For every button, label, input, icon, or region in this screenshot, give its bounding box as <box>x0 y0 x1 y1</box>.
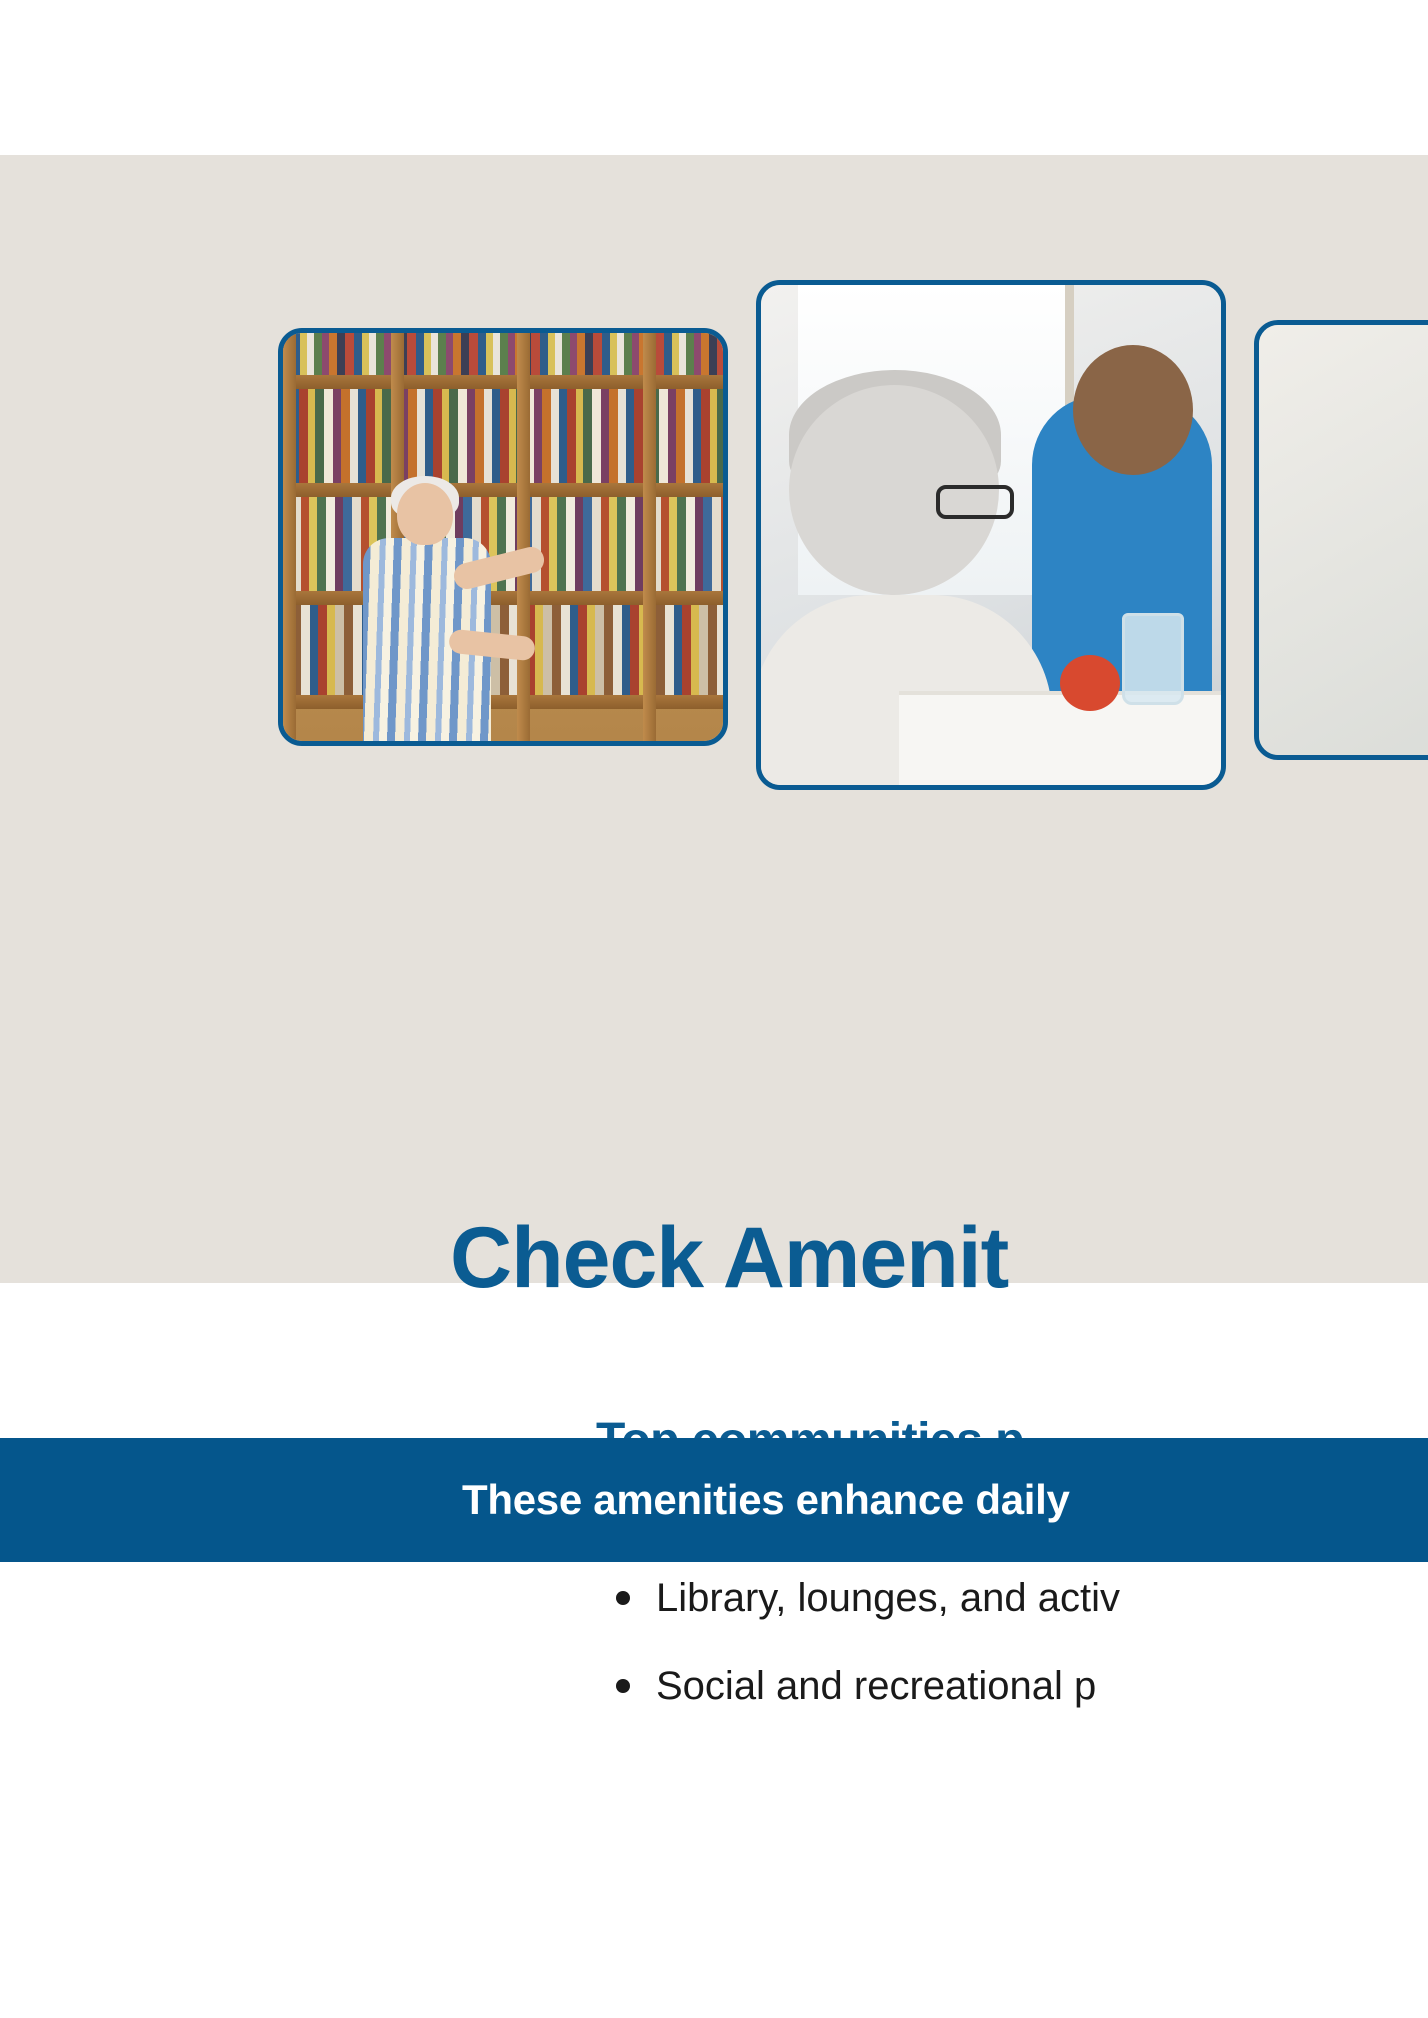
apple <box>1060 655 1120 711</box>
face <box>397 483 453 545</box>
shelf-divider <box>283 375 723 389</box>
shelf-post <box>283 333 296 741</box>
book-row <box>283 389 723 483</box>
book-row <box>283 333 723 375</box>
list-item: Social and recreational p <box>616 1653 1120 1719</box>
senior-woman-library-image <box>283 333 723 741</box>
page-canvas: Check Amenit Top communities p Nutritiou… <box>0 0 1428 2018</box>
page-title: Check Amenit <box>450 1213 1008 1303</box>
activity-background <box>1259 325 1428 755</box>
footer-banner-text: These amenities enhance daily <box>462 1476 1070 1524</box>
photo-strip <box>278 280 1428 790</box>
photo-card-activity <box>1254 320 1428 760</box>
list-item: Library, lounges, and activ <box>616 1565 1120 1631</box>
seniors-dining-caregiver-image <box>761 285 1221 785</box>
bullet-dot-icon <box>616 1591 630 1605</box>
slide-artboard: Check Amenit Top communities p Nutritiou… <box>0 155 1428 1283</box>
list-item-label: Social and recreational p <box>656 1653 1096 1719</box>
senior-woman-figure <box>345 483 520 741</box>
photo-card-dining <box>756 280 1226 790</box>
water-glass <box>1122 613 1184 705</box>
footer-banner: These amenities enhance daily <box>0 1438 1428 1562</box>
caregiver-head <box>1073 345 1193 475</box>
activity-room-image <box>1259 325 1428 755</box>
shelf-post <box>643 333 656 741</box>
photo-card-library <box>278 328 728 746</box>
bullet-dot-icon <box>616 1679 630 1693</box>
eyeglasses <box>936 485 1014 519</box>
list-item-label: Library, lounges, and activ <box>656 1565 1120 1631</box>
dining-table <box>899 691 1221 785</box>
